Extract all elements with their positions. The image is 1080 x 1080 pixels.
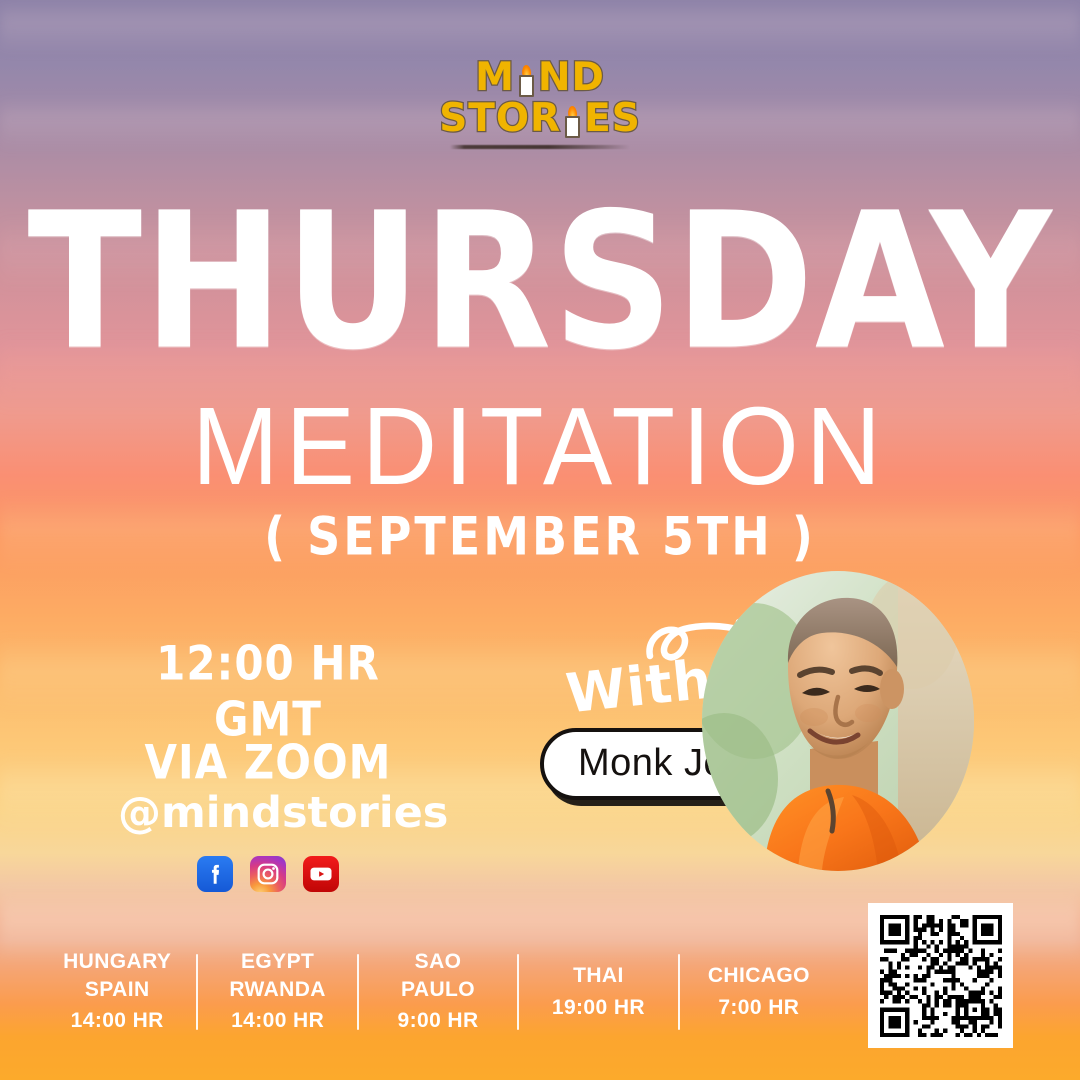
timezone-item: HUNGARY SPAIN 14:00 HR [38,948,196,1035]
qr-code[interactable] [868,903,1013,1048]
youtube-icon[interactable] [303,856,339,892]
brand-logo: M ND STOR ES [0,58,1080,149]
timezone-name-line1: HUNGARY [44,948,190,976]
instagram-icon[interactable] [250,856,286,892]
timezone-item: THAI 19:00 HR [519,962,677,1021]
timezone-strip: HUNGARY SPAIN 14:00 HR EGYPT RWANDA 14:0… [38,948,838,1035]
timezone-time: 19:00 HR [525,994,671,1022]
event-time: 12:00 HR GMT [118,636,418,747]
facebook-icon[interactable] [197,856,233,892]
logo-text-es: ES [584,99,641,138]
event-platform: VIA ZOOM [118,735,418,790]
timezone-name-line1: SAO [365,948,511,976]
timezone-item: EGYPT RWANDA 14:00 HR [198,948,356,1035]
poster-canvas: M ND STOR ES THURSDAY MEDITATION ( SEPTE… [0,0,1080,1080]
event-date: ( SEPTEMBER 5TH ) [0,510,1080,562]
logo-text-nd: ND [538,58,605,97]
social-handle: @mindstories [118,787,418,841]
timezone-time: 14:00 HR [204,1007,350,1035]
with-label: With [564,652,715,721]
logo-text-stor: STOR [439,99,561,138]
timezone-time: 9:00 HR [365,1007,511,1035]
timezone-name-line2: RWANDA [204,976,350,1004]
logo-text-m: M [475,58,515,97]
social-links [118,856,418,892]
event-subtitle: MEDITATION [0,392,1080,502]
logo-underline-stroke [450,145,630,149]
timezone-name-line1: EGYPT [204,948,350,976]
timezone-name-line1: CHICAGO [686,962,832,990]
candle-icon [565,108,580,138]
candle-body-icon [565,116,580,138]
guest-photo [702,571,974,871]
timezone-name-line2: PAULO [365,976,511,1004]
event-details-block: 12:00 HR GMT VIA ZOOM @mindstories [118,636,418,892]
event-title: THURSDAY [0,192,1080,373]
candle-body-icon [519,75,534,97]
candle-icon [519,67,534,97]
logo-line-stories: STOR ES [0,99,1080,138]
timezone-name-line1: THAI [525,962,671,990]
timezone-item: CHICAGO 7:00 HR [680,962,838,1021]
logo-line-mind: M ND [0,58,1080,97]
timezone-time: 14:00 HR [44,1007,190,1035]
timezone-time: 7:00 HR [686,994,832,1022]
timezone-item: SAO PAULO 9:00 HR [359,948,517,1035]
timezone-name-line2: SPAIN [44,976,190,1004]
